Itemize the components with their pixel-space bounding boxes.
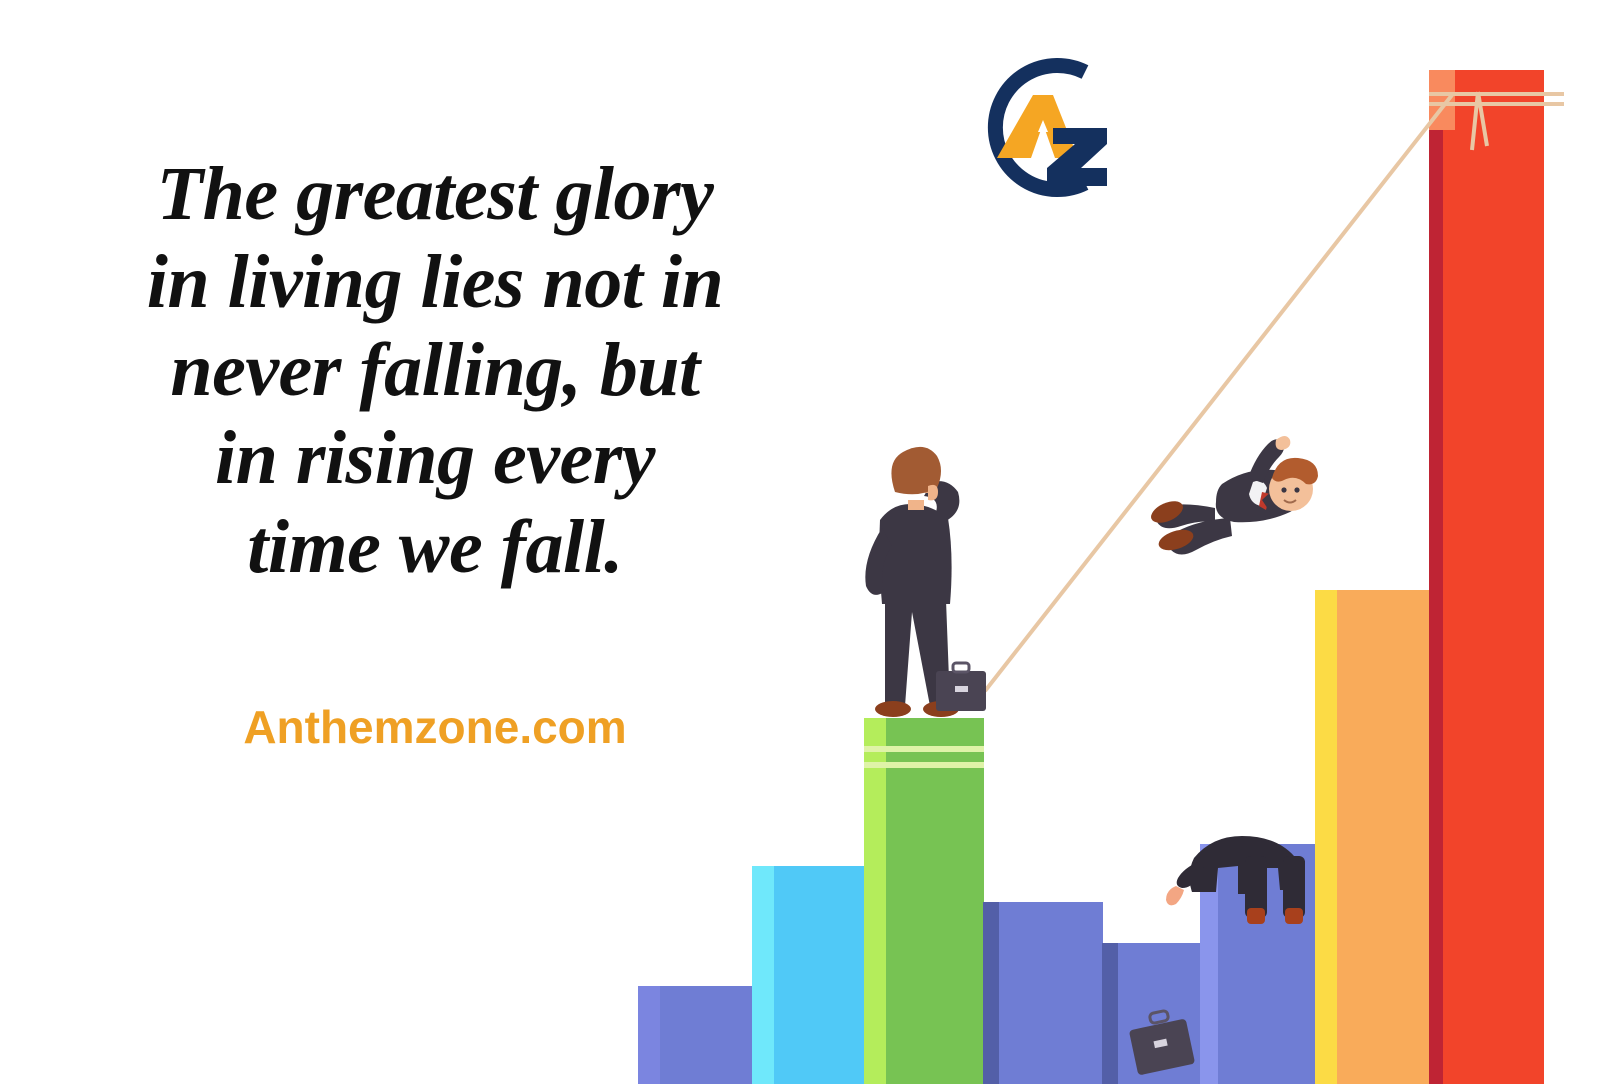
bar-7 (1315, 590, 1440, 1084)
bar-5-edge (1102, 943, 1118, 1084)
bar-8-edge (1429, 70, 1443, 1084)
bar-4 (983, 902, 1103, 1084)
quote-text: The greatest glory in living lies not in… (70, 150, 800, 591)
rope-knot-band-2 (1429, 102, 1564, 106)
bar-2 (752, 866, 870, 1084)
poster-canvas: The greatest glory in living lies not in… (0, 0, 1600, 1084)
quote-line-5: time we fall. (70, 503, 800, 591)
bar-4-edge (983, 902, 999, 1084)
quote-line-2: in living lies not in (70, 238, 800, 326)
rope-knot-band (1429, 92, 1564, 96)
bar-8-body (1429, 70, 1544, 1084)
quote-line-1: The greatest glory (70, 150, 800, 238)
bar-1 (638, 986, 758, 1084)
bar-1-edge (638, 986, 660, 1084)
quote-line-3: never falling, but (70, 326, 800, 414)
bar-7-edge (1315, 590, 1337, 1084)
logo-letter-a (997, 95, 1078, 158)
bar-3-edge (864, 718, 886, 1084)
bar-3 (864, 718, 984, 1084)
bar-8-highlight (1429, 70, 1455, 130)
bar-6-edge (1200, 844, 1218, 1084)
rope-band-bottom (864, 762, 984, 768)
anthemzone-logo[interactable] (935, 40, 1125, 215)
bar-2-edge (752, 866, 774, 1084)
bar-8 (1429, 70, 1544, 1084)
brand-website[interactable]: Anthemzone.com (70, 700, 800, 754)
bar-4-body (983, 902, 1103, 1084)
rope-band-top (864, 746, 984, 752)
quote-line-4: in rising every (70, 414, 800, 502)
